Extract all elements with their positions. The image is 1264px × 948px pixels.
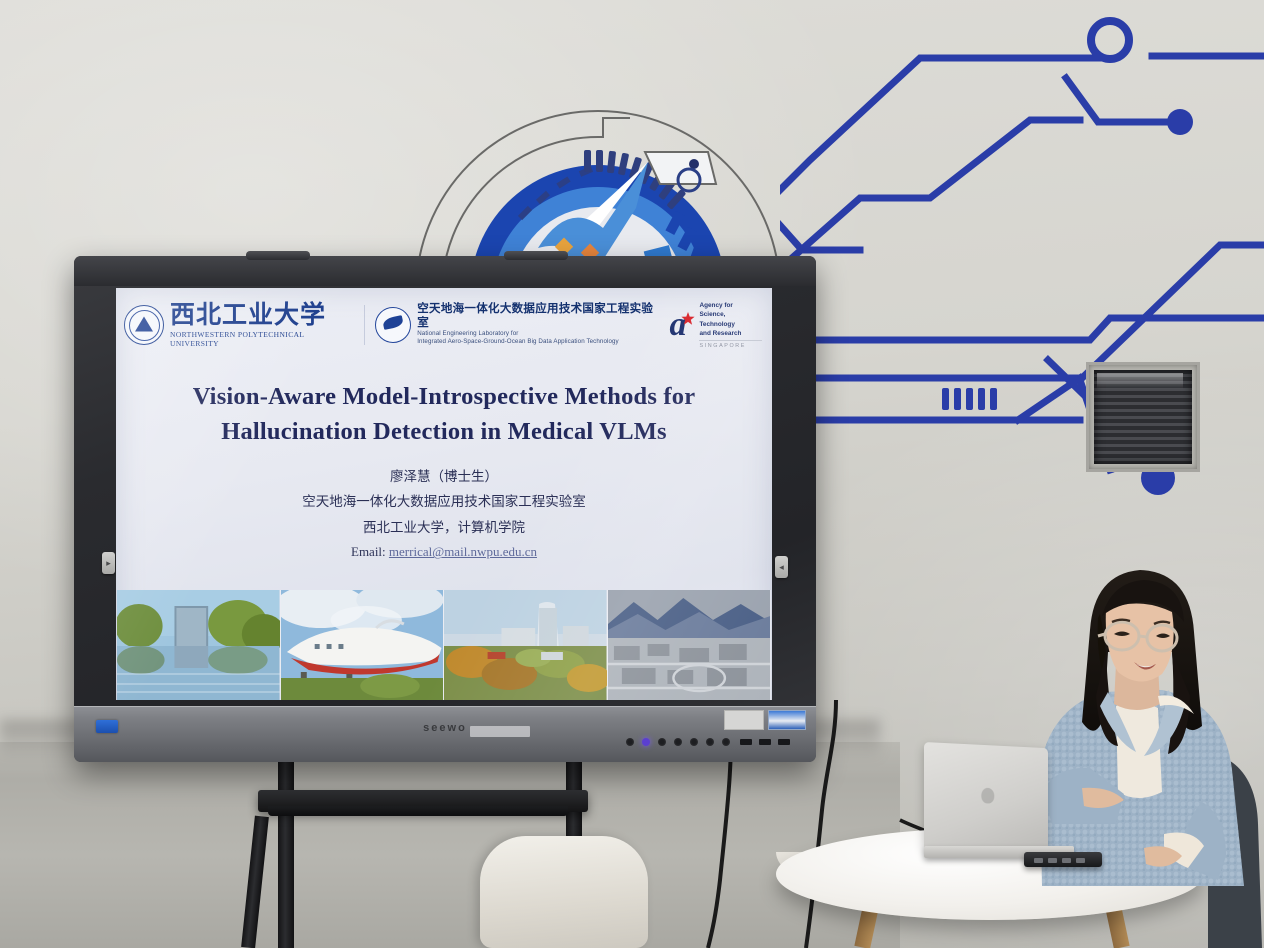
hub-port-2	[1048, 858, 1057, 863]
nel-name-cn: 空天地海一体化大数据应用技术国家工程实验室	[417, 303, 663, 329]
hub-port-1	[1034, 858, 1043, 863]
photo-aircraft-exhibit	[281, 590, 445, 700]
nwpu-seal-icon	[124, 305, 164, 345]
slide-author-block: 廖泽慧（博士生） 空天地海一体化大数据应用技术国家工程实验室 西北工业大学，计算…	[116, 464, 772, 566]
chair	[480, 836, 648, 948]
presentation-slide: 西北工业大学 NORTHWESTERN POLYTECHNICAL UNIVER…	[116, 288, 772, 700]
display-button-indicator[interactable]	[642, 738, 650, 746]
gray-sticker	[470, 726, 530, 737]
astar-line-1: Agency for	[699, 301, 762, 310]
display-handle-left	[246, 251, 310, 260]
astar-country: SINGAPORE	[699, 340, 762, 349]
photo-campus-aerial-autumn	[444, 590, 608, 700]
slide-title-block: Vision-Aware Model-Introspective Methods…	[116, 358, 772, 450]
display-button-6[interactable]	[706, 738, 714, 746]
side-button-right[interactable]: ◂	[775, 556, 788, 578]
display-button-power[interactable]	[626, 738, 634, 746]
nwpu-name-en: NORTHWESTERN POLYTECHNICAL UNIVERSITY	[170, 330, 354, 348]
display-button-4[interactable]	[674, 738, 682, 746]
laptop-lid	[924, 742, 1048, 850]
display-handle-right	[504, 251, 568, 260]
wall-lower-panel	[0, 742, 900, 948]
nel-name-en-2: Integrated Aero-Space-Ground-Ocean Big D…	[417, 338, 663, 346]
nwpu-seal-glyph	[135, 317, 153, 332]
affiliation-lab: 空天地海一体化大数据应用技术国家工程实验室	[116, 489, 772, 515]
nwpu-name-cn: 西北工业大学	[170, 303, 354, 328]
display-button-5[interactable]	[690, 738, 698, 746]
slide-title-line-2: Hallucination Detection in Medical VLMs	[156, 415, 732, 450]
display-brand-label: seewo	[74, 722, 816, 734]
stand-leg-left	[278, 756, 294, 948]
nel-bird-glyph	[382, 315, 404, 330]
energy-label-sticker	[768, 710, 806, 730]
vent-glare	[1097, 373, 1183, 389]
laptop-logo-icon	[981, 788, 994, 804]
affiliation-school: 西北工业大学，计算机学院	[116, 515, 772, 541]
usb-hub-dongle	[1024, 852, 1102, 867]
display-button-7[interactable]	[722, 738, 730, 746]
logo-divider	[364, 305, 365, 345]
astar-line-2: Science, Technology	[699, 310, 762, 329]
nwpu-logo-text: 西北工业大学 NORTHWESTERN POLYTECHNICAL UNIVER…	[170, 303, 354, 348]
slide-title-line-1: Vision-Aware Model-Introspective Methods…	[156, 380, 732, 415]
hub-port-4	[1076, 858, 1085, 863]
nel-seal-icon	[375, 307, 411, 343]
interactive-display[interactable]: ▸ ◂ 西北工业大学 NORTHWESTERN POLYTECHNICAL UN…	[74, 256, 816, 762]
photo-campus-aerial-mountains	[608, 590, 772, 700]
nel-name-en-1: National Engineering Laboratory for	[417, 330, 663, 338]
usb-port-2[interactable]	[759, 739, 771, 745]
display-screen[interactable]: 西北工业大学 NORTHWESTERN POLYTECHNICAL UNIVER…	[116, 288, 772, 700]
display-control-bar: seewo	[74, 706, 816, 762]
email-link[interactable]: merrical@mail.nwpu.edu.cn	[389, 544, 537, 559]
astar-line-3: and Research	[699, 329, 762, 338]
hub-port-3	[1062, 858, 1071, 863]
astar-star-icon	[681, 312, 695, 326]
astar-logo: a Agency for Science, Technology and Res…	[669, 301, 766, 349]
photo-campus-lake-willows	[117, 590, 281, 700]
presenter-person	[1012, 556, 1264, 948]
display-port-row[interactable]	[740, 739, 790, 745]
author-name: 廖泽慧（博士生）	[116, 464, 772, 490]
astar-text-block: Agency for Science, Technology and Resea…	[699, 301, 762, 349]
usb-port-3[interactable]	[778, 739, 790, 745]
presentation-room-scene: ▸ ◂ 西北工业大学 NORTHWESTERN POLYTECHNICAL UN…	[0, 0, 1264, 948]
display-button-3[interactable]	[658, 738, 666, 746]
email-label: Email:	[351, 544, 386, 559]
side-button-left[interactable]: ▸	[102, 552, 115, 574]
display-bezel-top	[74, 256, 816, 286]
display-button-row[interactable]	[626, 738, 730, 746]
air-vent	[1086, 362, 1200, 472]
nel-logo-text: 空天地海一体化大数据应用技术国家工程实验室 National Engineeri…	[417, 303, 663, 346]
email-row: Email: merrical@mail.nwpu.edu.cn	[116, 540, 772, 565]
slide-photo-strip	[117, 590, 771, 700]
usb-port-1[interactable]	[740, 739, 752, 745]
spec-label-sticker	[724, 710, 764, 730]
stand-shelf-lip	[268, 806, 568, 816]
slide-logo-bar: 西北工业大学 NORTHWESTERN POLYTECHNICAL UNIVER…	[116, 288, 772, 358]
